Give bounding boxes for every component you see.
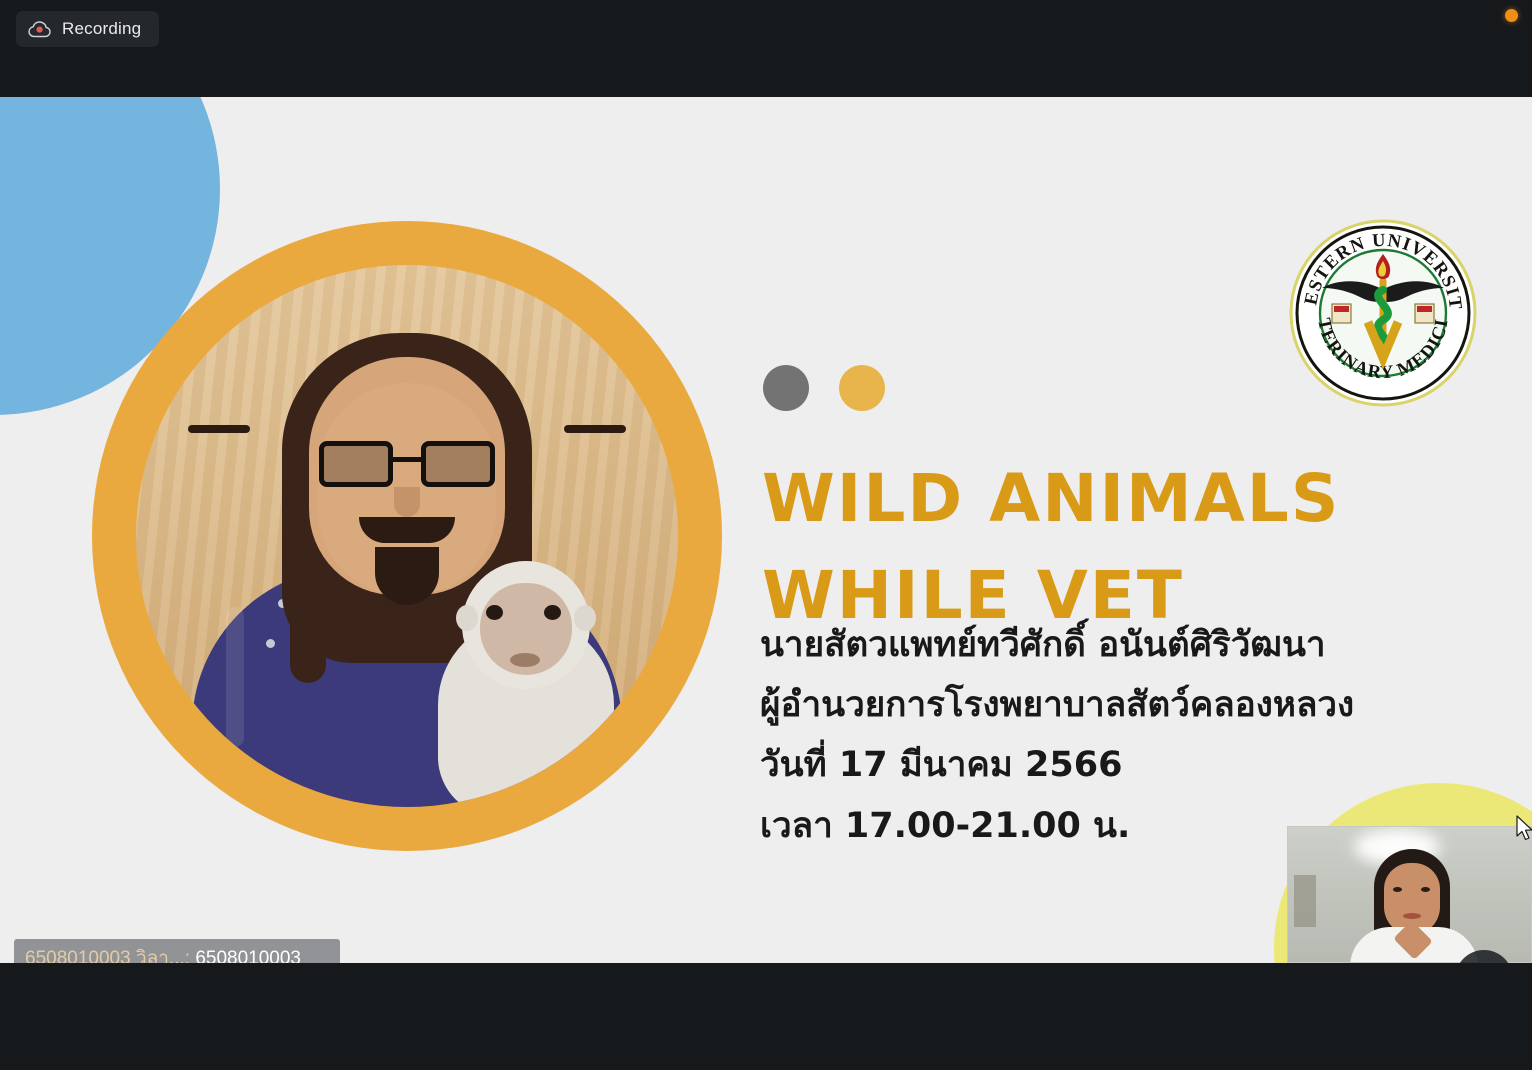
video-conference-screen: Recording	[0, 0, 1532, 1070]
subtitle-line-date: วันที่ 17 มีนาคม 2566	[760, 735, 1420, 795]
macaque-monkey	[432, 561, 620, 807]
caption-speaker-name: 6508010003 วิลา...:	[25, 948, 190, 963]
mouse-cursor-icon	[1516, 815, 1532, 843]
speaker-photo-ring	[92, 221, 722, 851]
cloud-record-icon	[28, 20, 52, 38]
speaker-glasses-icon	[319, 441, 495, 487]
slide-title: WILD ANIMALS WHILE VET	[762, 465, 1462, 630]
gold-dot-icon	[839, 365, 885, 411]
recording-badge[interactable]: Recording	[16, 11, 159, 47]
recording-label: Recording	[62, 19, 141, 39]
speaker-photo	[136, 265, 678, 807]
participant-video-thumbnail[interactable]	[1287, 826, 1532, 963]
slide-title-line1: WILD ANIMALS	[762, 460, 1340, 537]
orange-status-dot-icon	[1505, 9, 1518, 22]
bottom-bar: 1 / 22	[0, 963, 1532, 1070]
western-university-veterinary-medicine-logo: WESTERN UNIVERSITY VETERINARY MEDICINE	[1288, 218, 1478, 408]
top-bar: Recording	[0, 0, 1532, 97]
decorative-dots	[763, 365, 885, 411]
gray-dot-icon	[763, 365, 809, 411]
speaker-caption: 6508010003 วิลา...: 6508010003 วิลาสินี …	[14, 939, 340, 963]
subtitle-line-position: ผู้อำนวยการโรงพยาบาลสัตว์คลองหลวง	[760, 675, 1420, 735]
slide-subtitle: นายสัตวแพทย์ทวีศักดิ์ อนันต์ศิริวัฒนา ผู…	[760, 615, 1420, 856]
subtitle-line-speaker: นายสัตวแพทย์ทวีศักดิ์ อนันต์ศิริวัฒนา	[760, 615, 1420, 675]
